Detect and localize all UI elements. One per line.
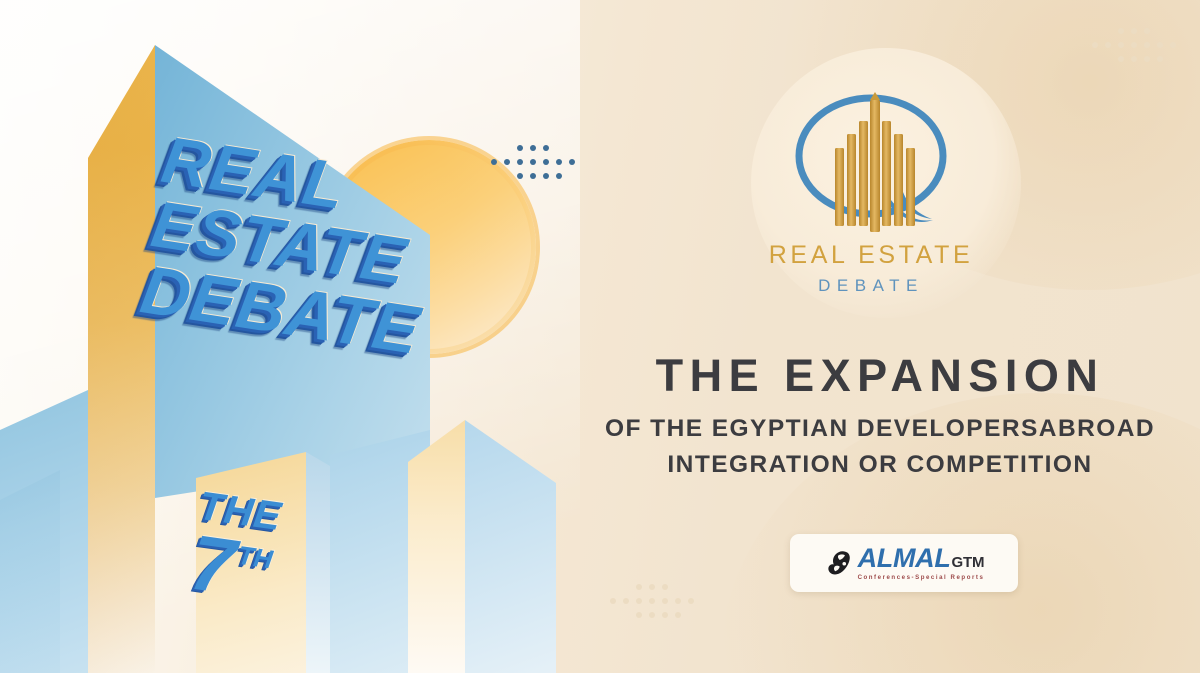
edition-number: 7	[187, 528, 240, 602]
sponsor-text: ALMAL GTM Conferences-Special Reports	[858, 545, 985, 581]
emblem-title: REAL ESTATE	[730, 243, 1012, 268]
headline-subline-1: OF THE EGYPTIAN DEVELOPERSABROAD	[580, 416, 1180, 443]
headline-subline-2: INTEGRATION OR COMPETITION	[580, 452, 1180, 479]
edition-badge: THE 7 TH	[187, 486, 321, 612]
sponsor-logo: ALMAL GTM Conferences-Special Reports	[824, 545, 985, 581]
edition-ordinal: TH	[236, 540, 275, 576]
dot-grid-top-middle	[487, 141, 578, 183]
emblem-wordmark: REAL ESTATE DEBATE	[730, 243, 1012, 294]
headline-block: THE EXPANSION OF THE EGYPTIAN DEVELOPERS…	[580, 352, 1180, 479]
real-estate-debate-logo-icon	[776, 74, 966, 264]
sponsor-tagline: Conferences-Special Reports	[858, 574, 985, 581]
sponsor-suffix: GTM	[952, 555, 985, 570]
edition-number-row: 7 TH	[187, 528, 315, 613]
sponsor-badge[interactable]: ALMAL GTM Conferences-Special Reports	[790, 534, 1018, 592]
emblem-subtitle: DEBATE	[730, 277, 1012, 294]
content-column: REAL ESTATE DEBATE THE EXPANSION OF THE …	[580, 0, 1200, 673]
sponsor-names: ALMAL GTM	[858, 545, 985, 572]
skyline-illustration: REAL ESTATE DEBATE THE 7 TH	[0, 0, 600, 673]
sponsor-name: ALMAL	[858, 545, 951, 572]
headline-main: THE EXPANSION	[580, 352, 1180, 399]
event-banner: REAL ESTATE DEBATE THE 7 TH	[0, 0, 1200, 673]
globe-icon	[824, 548, 854, 578]
